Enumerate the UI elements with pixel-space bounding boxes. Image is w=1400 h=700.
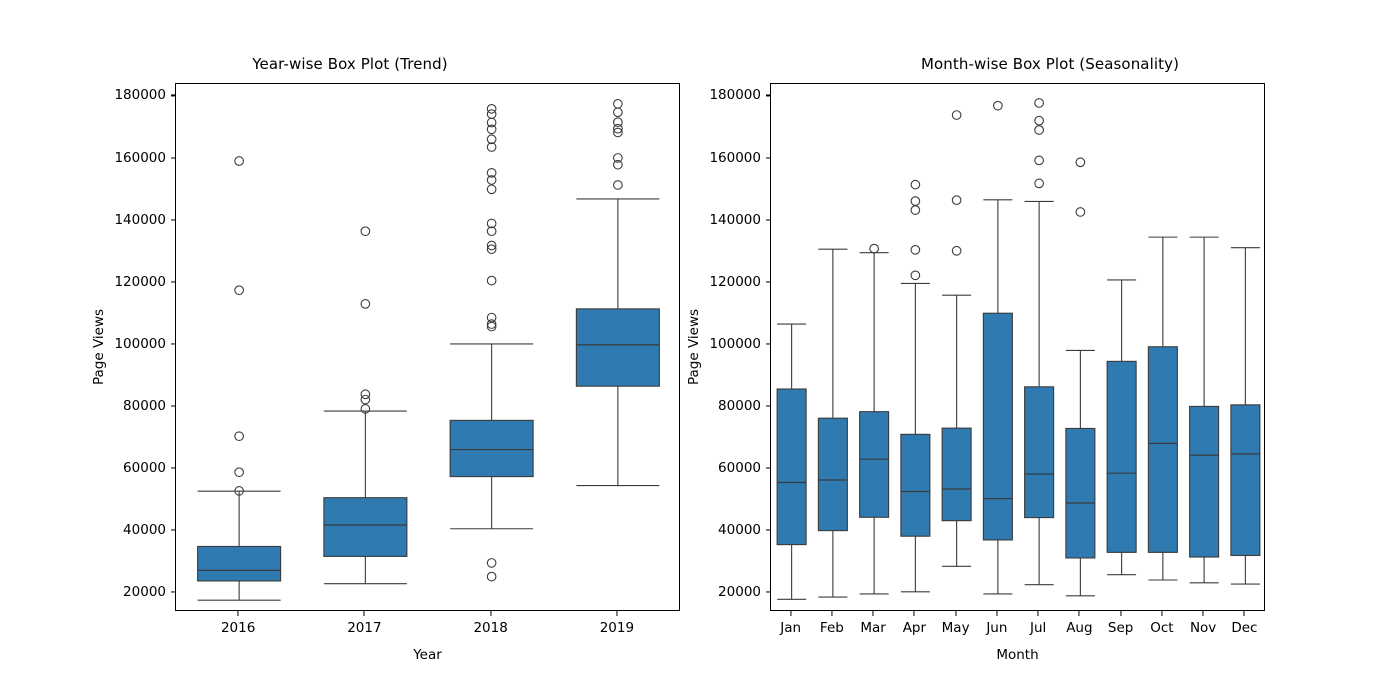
y-tick-mark: [766, 592, 771, 593]
outlier-marker: [361, 395, 370, 404]
outlier-marker: [235, 432, 244, 441]
boxplot-box-Jul: [1025, 99, 1054, 585]
box-rect: [1066, 428, 1095, 558]
boxplot-box-2018: [450, 105, 533, 581]
x-tick-label: Dec: [1231, 620, 1257, 636]
box-rect: [1231, 405, 1260, 556]
plot-area-month-wise: [770, 83, 1265, 611]
boxplot-box-Feb: [818, 249, 847, 597]
box-rect: [198, 546, 281, 580]
x-tick-mark: [364, 611, 365, 616]
boxplot-svg-year-wise: [176, 84, 679, 610]
chart-title-year-wise: Year-wise Box Plot (Trend): [0, 55, 700, 73]
boxplot-box-Nov: [1190, 237, 1219, 583]
box-rect: [576, 309, 659, 386]
boxplot-box-Mar: [860, 244, 889, 594]
box-rect: [1190, 406, 1219, 557]
x-tick-label: 2018: [473, 620, 507, 636]
y-tick-mark: [171, 343, 176, 344]
outlier-marker: [911, 206, 920, 215]
y-tick-mark: [171, 157, 176, 158]
y-tick-mark: [171, 281, 176, 282]
outlier-marker: [911, 246, 920, 255]
y-tick-mark: [171, 592, 176, 593]
y-tick-mark: [171, 95, 176, 96]
outlier-marker: [870, 244, 879, 253]
outlier-marker: [952, 246, 961, 255]
outlier-marker: [487, 185, 496, 194]
boxplot-box-Jan: [777, 324, 806, 599]
box-rect: [1148, 347, 1177, 553]
y-tick-label: 100000: [114, 336, 166, 352]
y-tick-label: 100000: [709, 336, 761, 352]
y-tick-mark: [766, 530, 771, 531]
x-tick-label: Aug: [1066, 620, 1092, 636]
y-tick-mark: [171, 468, 176, 469]
boxplot-box-2016: [198, 157, 281, 600]
x-tick-mark: [1120, 611, 1121, 616]
x-tick-label: Oct: [1150, 620, 1173, 636]
outlier-marker: [911, 180, 920, 189]
outlier-marker: [911, 271, 920, 280]
x-axis-label-year-wise: Year: [413, 647, 442, 663]
x-tick-label: 2019: [600, 620, 634, 636]
boxplot-svg-month-wise: [771, 84, 1264, 610]
y-tick-label: 60000: [718, 460, 761, 476]
x-tick-mark: [1079, 611, 1080, 616]
x-tick-mark: [616, 611, 617, 616]
y-tick-mark: [766, 405, 771, 406]
x-tick-mark: [1161, 611, 1162, 616]
y-axis-label-year-wise: Page Views: [91, 309, 107, 385]
y-tick-mark: [766, 219, 771, 220]
y-tick-mark: [171, 405, 176, 406]
chart-title-month-wise: Month-wise Box Plot (Seasonality): [700, 55, 1400, 73]
outlier-marker: [952, 111, 961, 120]
box-rect: [942, 428, 971, 521]
outlier-marker: [1035, 126, 1044, 135]
box-rect: [983, 313, 1012, 540]
y-tick-mark: [766, 281, 771, 282]
y-tick-label: 20000: [123, 584, 166, 600]
x-tick-label: Jan: [780, 620, 801, 636]
x-tick-label: 2016: [221, 620, 255, 636]
y-tick-mark: [171, 219, 176, 220]
boxplot-box-Apr: [901, 180, 930, 591]
outlier-marker: [1035, 116, 1044, 125]
outlier-marker: [1076, 208, 1085, 217]
y-tick-mark: [766, 343, 771, 344]
box-rect: [818, 418, 847, 530]
y-tick-label: 120000: [709, 274, 761, 290]
outlier-marker: [361, 300, 370, 309]
y-tick-label: 140000: [114, 212, 166, 228]
outlier-marker: [487, 559, 496, 568]
boxplot-box-2017: [324, 227, 407, 584]
outlier-marker: [952, 196, 961, 205]
x-tick-mark: [955, 611, 956, 616]
x-tick-mark: [1244, 611, 1245, 616]
outlier-marker: [235, 286, 244, 295]
y-tick-mark: [766, 157, 771, 158]
chart-panel-year-wise: Year-wise Box Plot (Trend) Page Views Ye…: [0, 0, 700, 700]
x-tick-mark: [490, 611, 491, 616]
boxplot-box-Oct: [1148, 237, 1177, 580]
outlier-marker: [614, 181, 623, 190]
box-rect: [1107, 361, 1136, 552]
box-rect: [1025, 387, 1054, 518]
outlier-marker: [235, 468, 244, 477]
y-tick-label: 160000: [114, 150, 166, 166]
outlier-marker: [235, 157, 244, 166]
x-tick-label: Jul: [1030, 620, 1046, 636]
box-rect: [901, 434, 930, 536]
y-tick-label: 180000: [114, 87, 166, 103]
outlier-marker: [994, 101, 1003, 110]
x-tick-mark: [1203, 611, 1204, 616]
outlier-marker: [487, 110, 496, 119]
x-tick-label: 2017: [347, 620, 381, 636]
y-tick-label: 40000: [123, 522, 166, 538]
x-tick-mark: [790, 611, 791, 616]
x-tick-label: Jun: [986, 620, 1007, 636]
x-tick-mark: [996, 611, 997, 616]
chart-panel-month-wise: Month-wise Box Plot (Seasonality) Page V…: [700, 0, 1400, 700]
figure-canvas: Year-wise Box Plot (Trend) Page Views Ye…: [0, 0, 1400, 700]
y-axis-label-month-wise: Page Views: [686, 309, 702, 385]
y-tick-label: 120000: [114, 274, 166, 290]
x-tick-label: Sep: [1108, 620, 1133, 636]
y-tick-label: 140000: [709, 212, 761, 228]
box-rect: [777, 389, 806, 545]
y-tick-label: 20000: [718, 584, 761, 600]
boxplot-box-Aug: [1066, 158, 1095, 596]
x-tick-mark: [914, 611, 915, 616]
x-tick-label: Nov: [1190, 620, 1216, 636]
y-tick-label: 180000: [709, 87, 761, 103]
outlier-marker: [1035, 179, 1044, 188]
y-tick-label: 80000: [718, 398, 761, 414]
outlier-marker: [614, 108, 623, 117]
box-rect: [450, 420, 533, 476]
outlier-marker: [1076, 158, 1085, 167]
x-tick-label: Mar: [860, 620, 885, 636]
y-tick-mark: [766, 95, 771, 96]
y-tick-label: 60000: [123, 460, 166, 476]
y-tick-mark: [171, 530, 176, 531]
boxplot-box-May: [942, 111, 971, 567]
x-tick-mark: [831, 611, 832, 616]
y-tick-label: 80000: [123, 398, 166, 414]
x-axis-label-month-wise: Month: [996, 647, 1038, 663]
box-rect: [324, 498, 407, 557]
y-tick-label: 160000: [709, 150, 761, 166]
boxplot-box-Sep: [1107, 280, 1136, 575]
x-tick-label: Apr: [903, 620, 926, 636]
boxplot-box-2019: [576, 100, 659, 486]
x-tick-mark: [238, 611, 239, 616]
boxplot-box-Dec: [1231, 248, 1260, 584]
outlier-marker: [487, 572, 496, 581]
x-tick-label: May: [942, 620, 970, 636]
outlier-marker: [614, 100, 623, 109]
y-tick-mark: [766, 468, 771, 469]
x-tick-mark: [1038, 611, 1039, 616]
box-rect: [860, 412, 889, 518]
boxplot-box-Jun: [983, 101, 1012, 594]
outlier-marker: [911, 197, 920, 206]
outlier-marker: [361, 227, 370, 236]
x-tick-label: Feb: [820, 620, 844, 636]
y-tick-label: 40000: [718, 522, 761, 538]
outlier-marker: [1035, 99, 1044, 108]
outlier-marker: [487, 276, 496, 285]
outlier-marker: [1035, 156, 1044, 165]
x-tick-mark: [873, 611, 874, 616]
plot-area-year-wise: [175, 83, 680, 611]
